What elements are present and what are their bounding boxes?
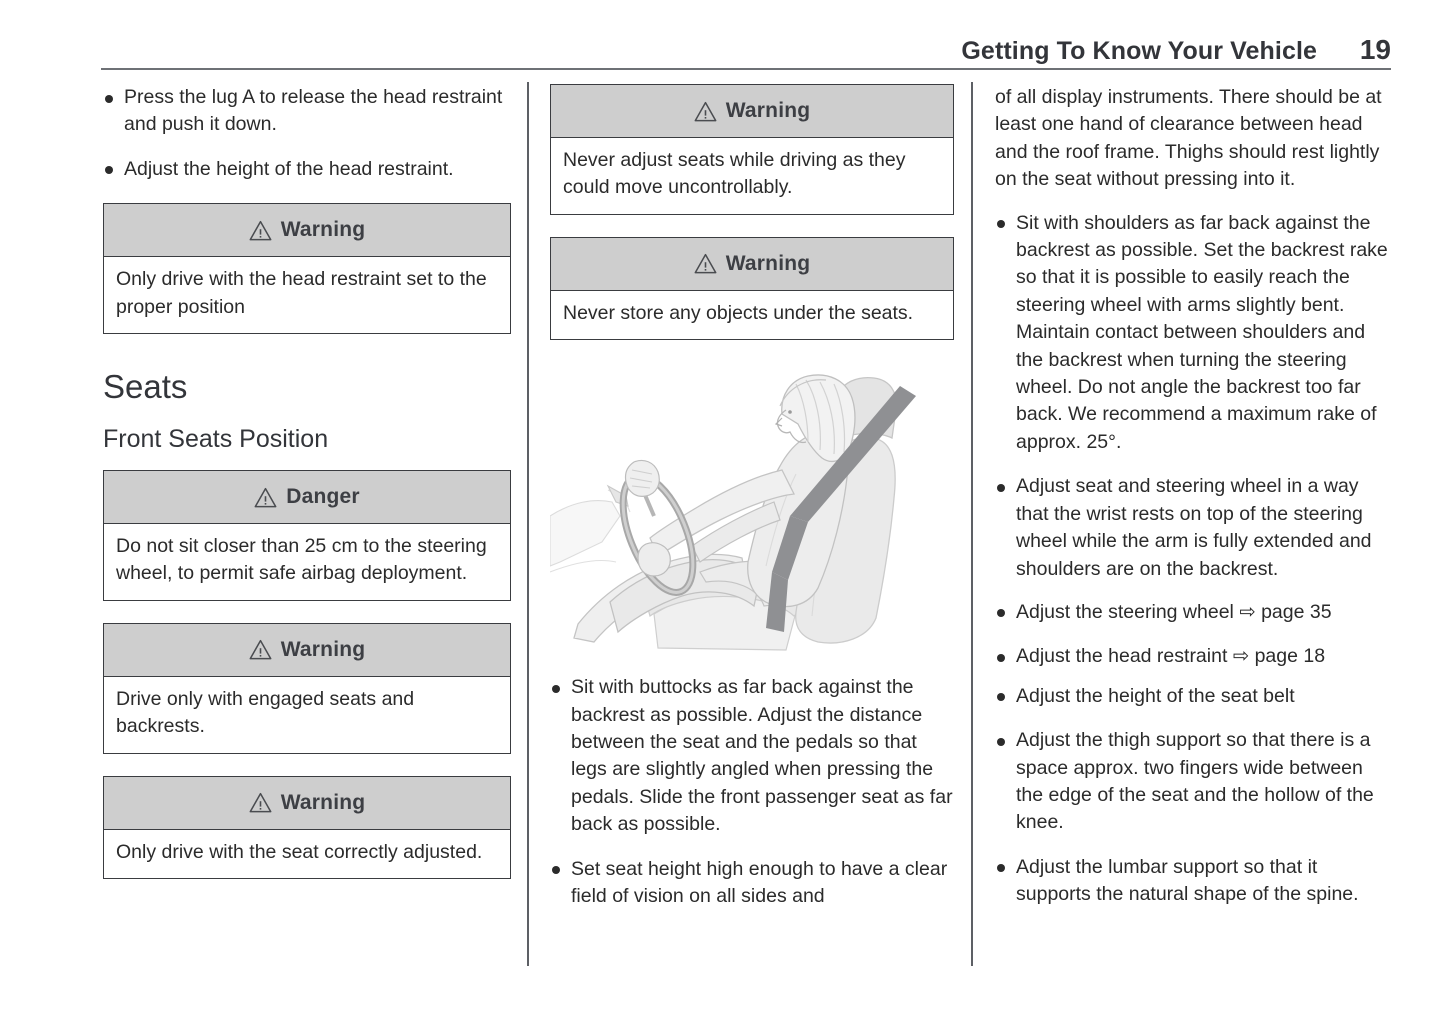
list-item: Sit with shoulders as far back against t… [995, 210, 1395, 457]
column-separator-left [527, 82, 529, 966]
notice-box-never-adjust: Warning Never adjust seats while driving… [550, 84, 954, 215]
seating-position-bullet-list: Sit with buttocks as far back against th… [550, 674, 954, 910]
right-column: of all display instruments. There should… [995, 84, 1395, 909]
notice-header: Warning [104, 204, 510, 257]
notice-label: Warning [726, 252, 811, 276]
page-header: Getting To Know Your Vehicle 19 [101, 34, 1391, 74]
list-item: Set seat height high enough to have a cl… [550, 856, 954, 911]
notice-header: Warning [104, 624, 510, 677]
section-title-seats: Seats [103, 368, 511, 406]
notice-label: Warning [281, 638, 366, 662]
list-item-cross-reference: Adjust the head restraint ⇨ page 18 [995, 643, 1395, 670]
list-item-cross-reference: Adjust the steering wheel ⇨ page 35 [995, 599, 1395, 626]
notice-body: Never adjust seats while driving as they… [551, 138, 953, 214]
page-number: 19 [1353, 34, 1391, 66]
notice-label: Warning [281, 791, 366, 815]
list-item: Sit with buttocks as far back against th… [550, 674, 954, 838]
notice-body: Only drive with the head restraint set t… [104, 257, 510, 333]
list-item: Adjust the height of the seat belt [995, 683, 1395, 710]
cross-reference-label: Adjust the steering wheel [1016, 601, 1234, 623]
right-arrow-icon: ⇨ [1239, 601, 1255, 623]
list-item: Adjust the thigh support so that there i… [995, 727, 1395, 837]
notice-body: Never store any objects under the seats. [551, 291, 953, 339]
notice-body: Drive only with engaged seats and backre… [104, 677, 510, 753]
notice-body: Only drive with the seat correctly adjus… [104, 830, 510, 878]
notice-box-danger-airbag: Danger Do not sit closer than 25 cm to t… [103, 470, 511, 601]
notice-box-engaged-seats: Warning Drive only with engaged seats an… [103, 623, 511, 754]
notice-box-head-restraint: Warning Only drive with the head restrai… [103, 203, 511, 334]
middle-column: Warning Never adjust seats while driving… [550, 84, 954, 910]
page-title: Getting To Know Your Vehicle [961, 37, 1317, 66]
list-item: Press the lug A to release the head rest… [103, 84, 511, 139]
seating-position-illustration [550, 366, 954, 656]
warning-triangle-icon [254, 487, 277, 508]
header-row: Getting To Know Your Vehicle 19 [101, 34, 1391, 68]
list-item: Adjust the height of the head restraint. [103, 156, 511, 183]
cross-reference-target[interactable]: page 18 [1255, 645, 1326, 667]
cross-reference-label: Adjust the head restraint [1016, 645, 1227, 667]
list-item: Adjust the lumbar support so that it sup… [995, 854, 1395, 909]
warning-triangle-icon [694, 101, 717, 122]
column-separator-right [971, 82, 973, 966]
cross-reference-target[interactable]: page 35 [1261, 601, 1332, 623]
notice-box-never-store: Warning Never store any objects under th… [550, 237, 954, 340]
notice-header: Warning [104, 777, 510, 830]
posture-bullet-list: Sit with shoulders as far back against t… [995, 210, 1395, 583]
head-restraint-bullet-list: Press the lug A to release the head rest… [103, 84, 511, 183]
left-column: Press the lug A to release the head rest… [103, 84, 511, 879]
notice-label: Danger [286, 485, 360, 509]
warning-triangle-icon [249, 639, 272, 660]
list-item: Adjust seat and steering wheel in a way … [995, 473, 1395, 583]
warning-triangle-icon [694, 253, 717, 274]
notice-label: Warning [281, 218, 366, 242]
notice-label: Warning [726, 99, 811, 123]
notice-body: Do not sit closer than 25 cm to the stee… [104, 524, 510, 600]
warning-triangle-icon [249, 220, 272, 241]
warning-triangle-icon [249, 792, 272, 813]
notice-header: Warning [551, 238, 953, 291]
notice-header: Danger [104, 471, 510, 524]
header-divider [101, 68, 1391, 70]
right-arrow-icon: ⇨ [1233, 645, 1249, 667]
continued-paragraph: of all display instruments. There should… [995, 84, 1395, 194]
subsection-title-front-seats-position: Front Seats Position [103, 424, 511, 454]
cross-reference-list: Adjust the steering wheel ⇨ page 35 Adju… [995, 599, 1395, 671]
manual-page: Getting To Know Your Vehicle 19 Press th… [0, 0, 1445, 1018]
adjustment-bullet-list: Adjust the height of the seat belt Adjus… [995, 683, 1395, 909]
notice-box-seat-adjusted: Warning Only drive with the seat correct… [103, 776, 511, 879]
notice-header: Warning [551, 85, 953, 138]
